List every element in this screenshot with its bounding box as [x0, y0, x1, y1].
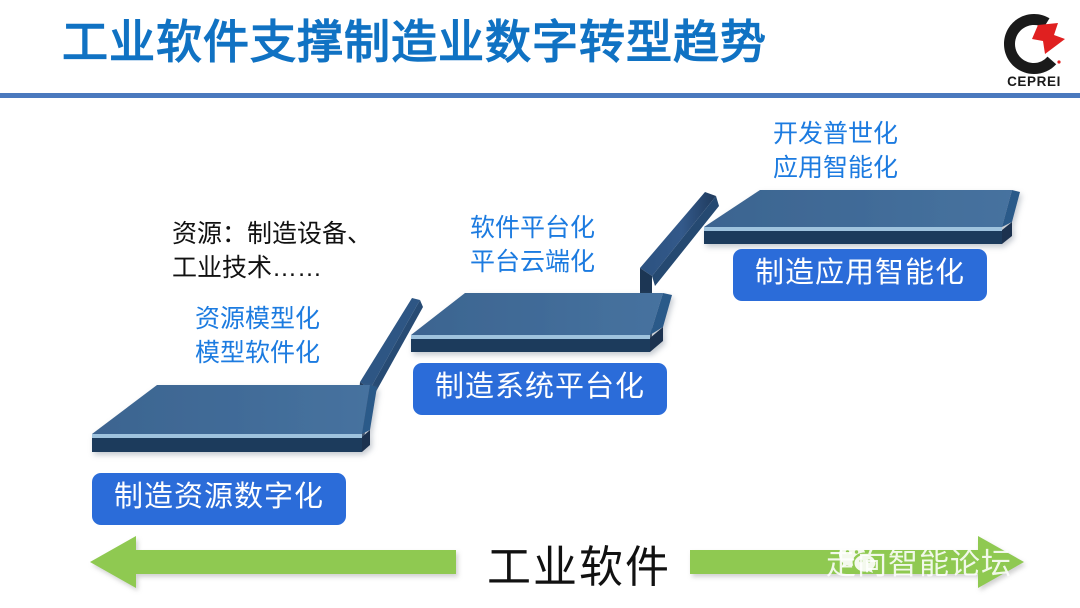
- step-label-manufacturing-application-intelligence[interactable]: 制造应用智能化: [733, 249, 987, 301]
- left-green-arrow: [90, 536, 456, 588]
- ceprei-logo: CEPREI: [996, 8, 1072, 88]
- annotation-resource-model-line-1: 资源模型化: [195, 303, 320, 337]
- slide-canvas: 工业软件支撑制造业数字转型趋势 CEPREI: [0, 0, 1080, 608]
- annotation-resource-model-line-2: 模型软件化: [195, 337, 320, 371]
- annotation-resources: 资源：制造设备、 工业技术……: [172, 218, 372, 286]
- annotation-platform-line-1: 软件平台化: [470, 212, 595, 246]
- forum-watermark: 走向智能论坛: [826, 539, 1012, 583]
- riser-step2-step3: [640, 192, 719, 345]
- annotation-development-line-1: 开发普世化: [773, 118, 898, 152]
- annotation-platform: 软件平台化 平台云端化: [470, 212, 595, 279]
- logo-wordmark: CEPREI: [1007, 74, 1061, 88]
- annotation-platform-line-2: 平台云端化: [470, 246, 595, 280]
- logo-red-arrow: [1032, 23, 1065, 54]
- annotation-resources-line-1: 资源：制造设备、: [172, 218, 372, 252]
- annotation-resources-line-2: 工业技术……: [172, 252, 372, 286]
- step-label-manufacturing-resource-digitization[interactable]: 制造资源数字化: [92, 473, 346, 525]
- step-label-manufacturing-system-platformization[interactable]: 制造系统平台化: [413, 363, 667, 415]
- title-divider: [0, 93, 1080, 98]
- step-2-slab: [411, 293, 672, 352]
- annotation-resource-model: 资源模型化 模型软件化: [195, 303, 320, 370]
- bottom-caption: 工业软件: [487, 531, 671, 595]
- page-title: 工业软件支撑制造业数字转型趋势: [62, 14, 767, 72]
- logo-dot: [1057, 60, 1060, 63]
- annotation-development: 开发普世化 应用智能化: [773, 118, 898, 185]
- step-3-slab: [704, 190, 1020, 244]
- step-1-slab: [92, 385, 377, 452]
- annotation-development-line-2: 应用智能化: [773, 152, 898, 186]
